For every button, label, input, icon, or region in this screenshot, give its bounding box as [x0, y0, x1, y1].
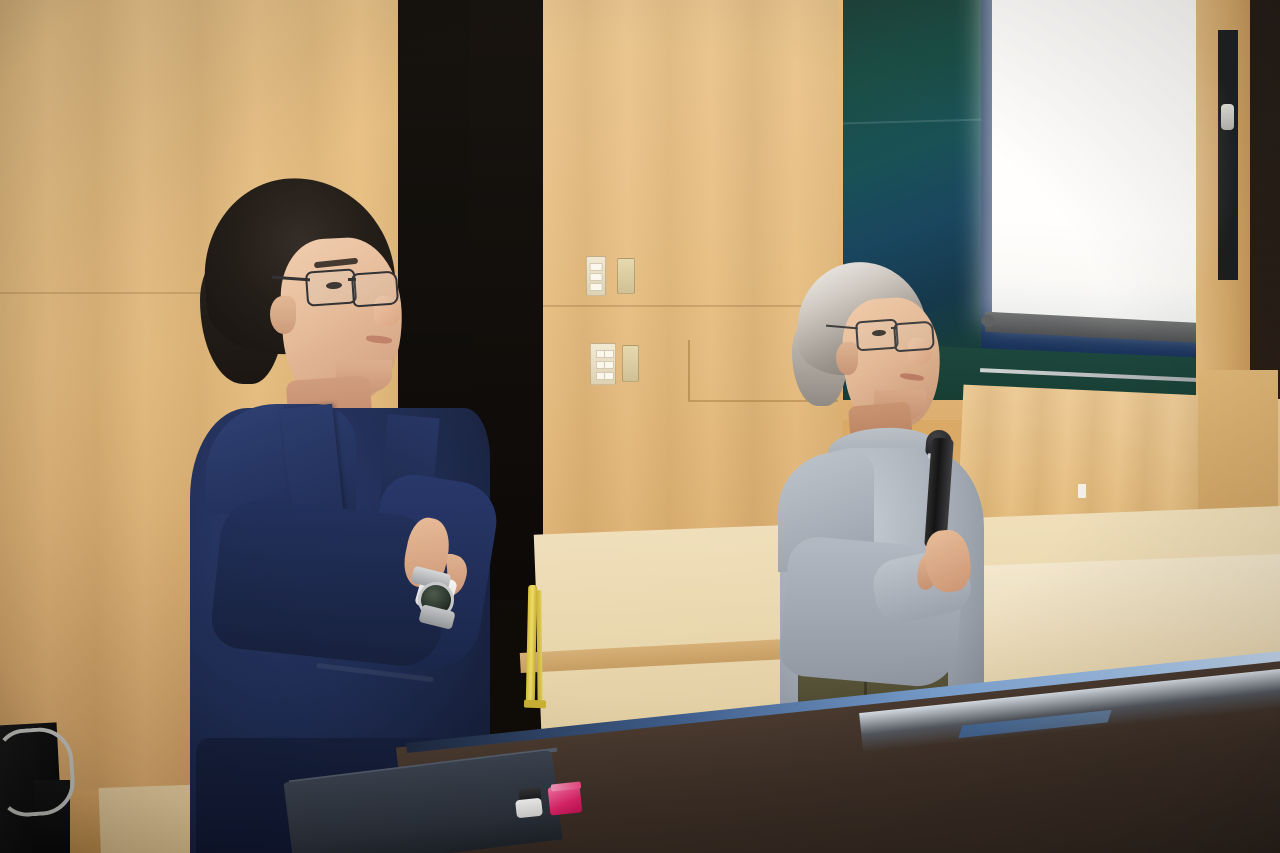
door-recess-right — [1218, 30, 1238, 280]
yellow-cable-base — [524, 700, 546, 709]
ear — [836, 342, 858, 375]
wall-switch-plate[interactable] — [617, 258, 635, 294]
eyeglasses-bridge — [348, 278, 356, 281]
wall-switch-plate[interactable] — [622, 345, 639, 382]
eyeglasses-bridge — [891, 327, 897, 329]
switch-button[interactable] — [604, 361, 613, 369]
right-wall-gap — [1250, 0, 1280, 430]
switch-button[interactable] — [590, 273, 603, 281]
white-item[interactable] — [515, 798, 543, 819]
switch-button[interactable] — [604, 350, 613, 358]
wall-switch-plate[interactable] — [586, 256, 606, 296]
projection-screen-surface — [992, 0, 1220, 326]
switch-button[interactable] — [590, 263, 603, 271]
eyeglasses-left-lens — [305, 268, 357, 306]
switch-button[interactable] — [590, 283, 603, 291]
eyeglasses-right-lens — [893, 321, 935, 353]
ear — [270, 296, 296, 334]
power-outlet-icon[interactable] — [1078, 484, 1086, 498]
eyeglasses-left-lens — [855, 319, 899, 352]
door-handle-icon[interactable] — [1221, 104, 1234, 130]
photo-scene: Two men standing on the wooden stage of … — [0, 0, 1280, 853]
wall-switch-plate[interactable] — [590, 343, 616, 385]
metal-handle-icon[interactable] — [0, 725, 77, 818]
eyeglasses-right-lens — [351, 270, 399, 307]
switch-button[interactable] — [604, 372, 613, 380]
projection-screen — [981, 0, 1231, 362]
